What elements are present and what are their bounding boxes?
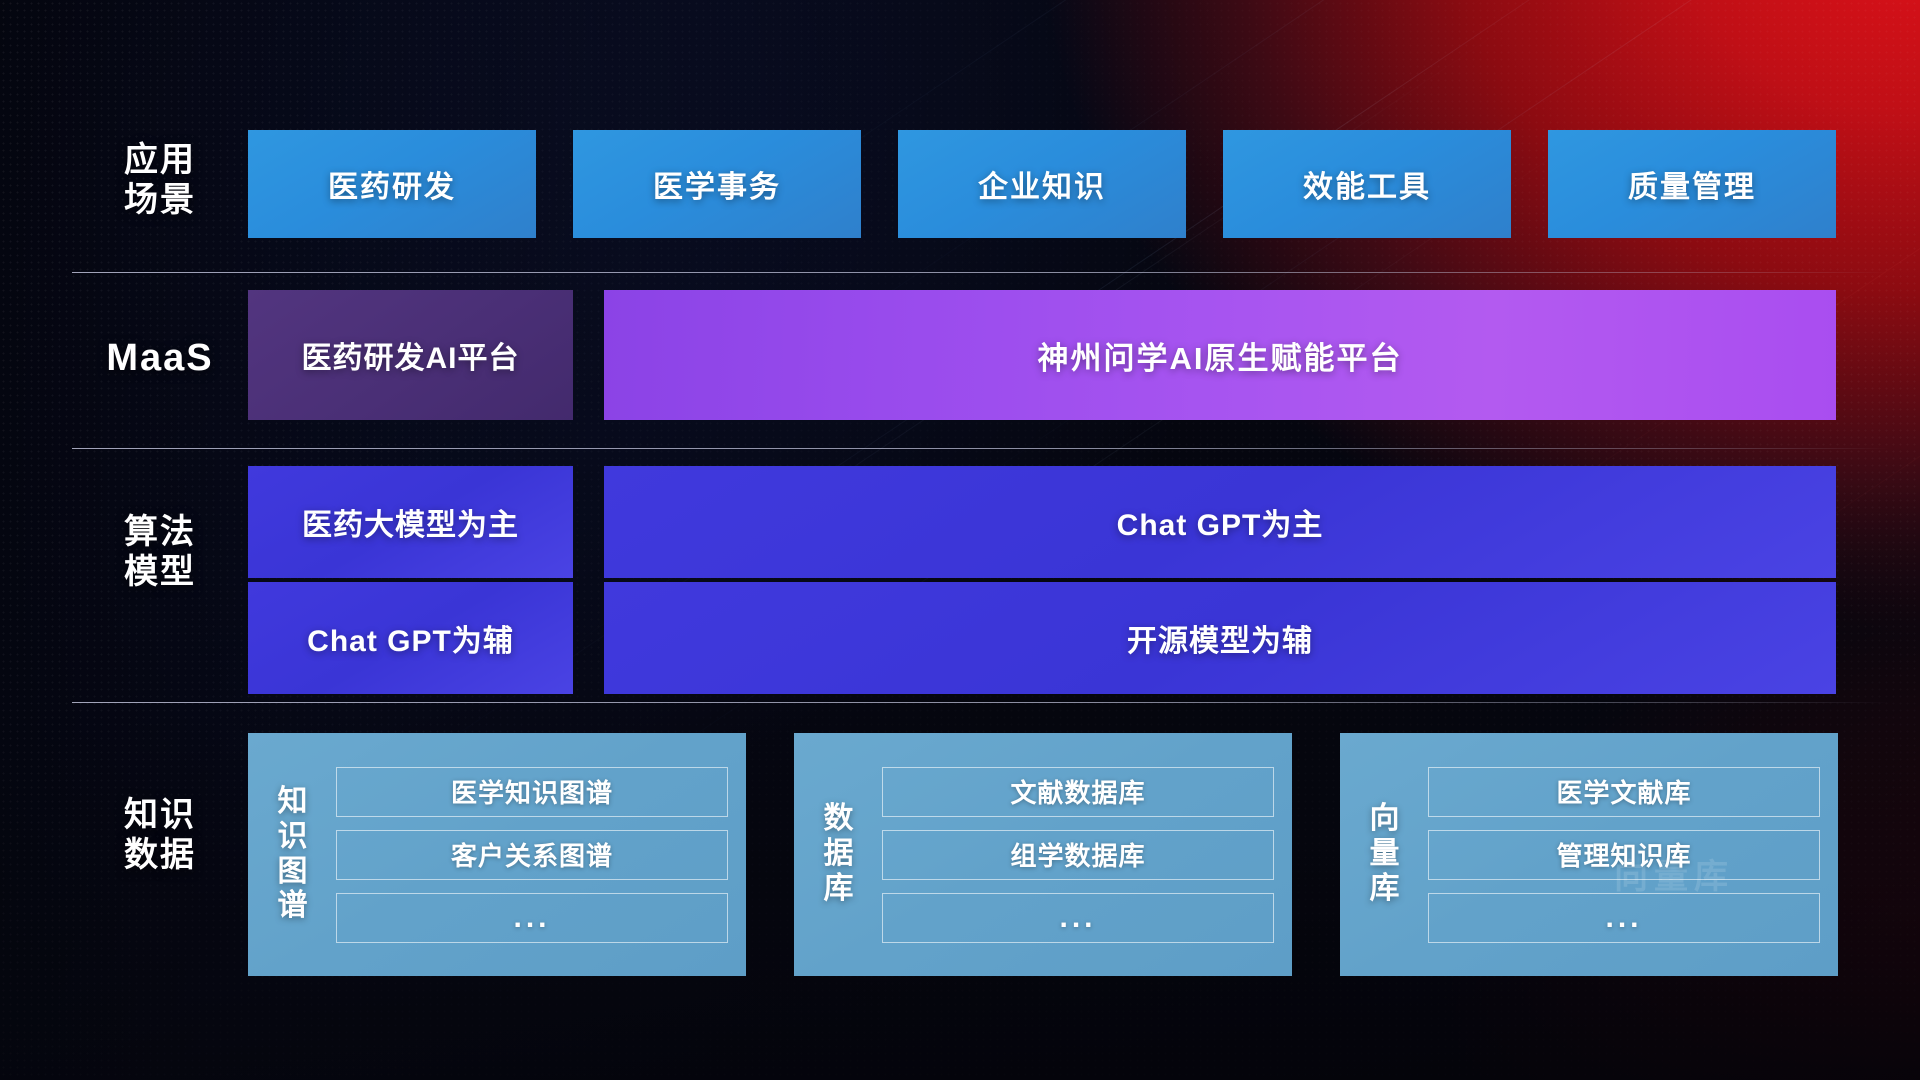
knowledge-panel-item-more[interactable]: ... [1428, 893, 1820, 943]
knowledge-panel-item[interactable]: 文献数据库 [882, 767, 1274, 817]
knowledge-panel-label-char: 知 [278, 785, 309, 820]
app-scenario-box-1[interactable]: 医药研发 [248, 130, 536, 238]
row-label-line: MaaS [72, 336, 248, 381]
app-scenario-box-label: 企业知识 [978, 162, 1106, 206]
algorithm-box-pharma-primary[interactable]: 医药大模型为主 [248, 466, 573, 578]
algorithm-box-label: 开源模型为辅 [1127, 616, 1313, 660]
knowledge-panel-label-char: 谱 [278, 889, 309, 924]
knowledge-panel-knowledge-graph[interactable]: 知 识 图 谱 医学知识图谱 客户关系图谱 ... [248, 733, 746, 976]
row-label-knowledge-data: 知识 数据 [72, 795, 248, 875]
knowledge-panel-label-char: 图 [278, 855, 309, 890]
algorithm-box-chatgpt-secondary[interactable]: Chat GPT为辅 [248, 582, 573, 694]
knowledge-panel-database[interactable]: 数 据 库 文献数据库 组学数据库 ... [794, 733, 1292, 976]
algorithm-box-label: 医药大模型为主 [302, 500, 519, 544]
row-label-line: 数据 [72, 835, 248, 875]
row-label-line: 应用 [72, 140, 248, 180]
app-scenario-box-2[interactable]: 医学事务 [573, 130, 861, 238]
algorithm-box-opensource-secondary[interactable]: 开源模型为辅 [604, 582, 1836, 694]
app-scenario-box-4[interactable]: 效能工具 [1223, 130, 1511, 238]
knowledge-panel-item[interactable]: 客户关系图谱 [336, 830, 728, 880]
knowledge-panel-item[interactable]: 医学知识图谱 [336, 767, 728, 817]
knowledge-panel-item[interactable]: 组学数据库 [882, 830, 1274, 880]
knowledge-panel-item-more[interactable]: ... [336, 893, 728, 943]
knowledge-panel-label: 知 识 图 谱 [262, 785, 324, 924]
row-label-maas: MaaS [72, 336, 248, 381]
row-label-algorithm-model: 算法 模型 [72, 512, 248, 592]
knowledge-panel-label-char: 数 [824, 802, 855, 837]
algorithm-box-chatgpt-primary[interactable]: Chat GPT为主 [604, 466, 1836, 578]
row-label-application-scenario: 应用 场景 [72, 140, 248, 220]
app-scenario-box-label: 医药研发 [328, 162, 456, 206]
maas-platform-label: 神州问学AI原生赋能平台 [1038, 333, 1403, 378]
row-label-line: 知识 [72, 795, 248, 835]
app-scenario-box-label: 效能工具 [1303, 162, 1431, 206]
algorithm-box-label: Chat GPT为主 [1117, 500, 1324, 544]
app-scenario-box-3[interactable]: 企业知识 [898, 130, 1186, 238]
knowledge-panel-label: 数 据 库 [808, 802, 870, 906]
knowledge-panel-item-list: 医学知识图谱 客户关系图谱 ... [336, 767, 728, 943]
knowledge-panel-vector-store[interactable]: 向量库 向 量 库 医学文献库 管理知识库 ... [1340, 733, 1838, 976]
knowledge-panel-label-char: 向 [1370, 802, 1401, 837]
knowledge-panel-item-list: 文献数据库 组学数据库 ... [882, 767, 1274, 943]
divider-application-maas [72, 272, 1890, 273]
knowledge-panel-label-char: 据 [824, 837, 855, 872]
knowledge-panel-label-char: 识 [278, 820, 309, 855]
app-scenario-box-5[interactable]: 质量管理 [1548, 130, 1836, 238]
maas-platform-label: 医药研发AI平台 [302, 333, 520, 377]
knowledge-panel-item[interactable]: 管理知识库 [1428, 830, 1820, 880]
row-label-line: 场景 [72, 180, 248, 220]
divider-algorithm-knowledge [72, 702, 1890, 703]
app-scenario-box-label: 质量管理 [1628, 162, 1756, 206]
divider-maas-algorithm [72, 448, 1890, 449]
knowledge-panel-item-list: 医学文献库 管理知识库 ... [1428, 767, 1820, 943]
knowledge-panel-label: 向 量 库 [1354, 802, 1416, 906]
knowledge-panel-label-char: 库 [1370, 872, 1401, 907]
knowledge-panel-label-char: 量 [1370, 837, 1401, 872]
slide-canvas: 应用 场景 医药研发 医学事务 企业知识 效能工具 质量管理 MaaS 医药研发… [0, 0, 1920, 1080]
knowledge-panel-item[interactable]: 医学文献库 [1428, 767, 1820, 817]
maas-platform-box-pharma[interactable]: 医药研发AI平台 [248, 290, 573, 420]
row-label-line: 模型 [72, 552, 248, 592]
row-label-line: 算法 [72, 512, 248, 552]
knowledge-panel-label-char: 库 [824, 872, 855, 907]
app-scenario-box-label: 医学事务 [653, 162, 781, 206]
maas-platform-box-shenzhou[interactable]: 神州问学AI原生赋能平台 [604, 290, 1836, 420]
knowledge-panel-item-more[interactable]: ... [882, 893, 1274, 943]
algorithm-box-label: Chat GPT为辅 [307, 616, 514, 660]
diagram-content: 应用 场景 医药研发 医学事务 企业知识 效能工具 质量管理 MaaS 医药研发… [0, 0, 1920, 1080]
